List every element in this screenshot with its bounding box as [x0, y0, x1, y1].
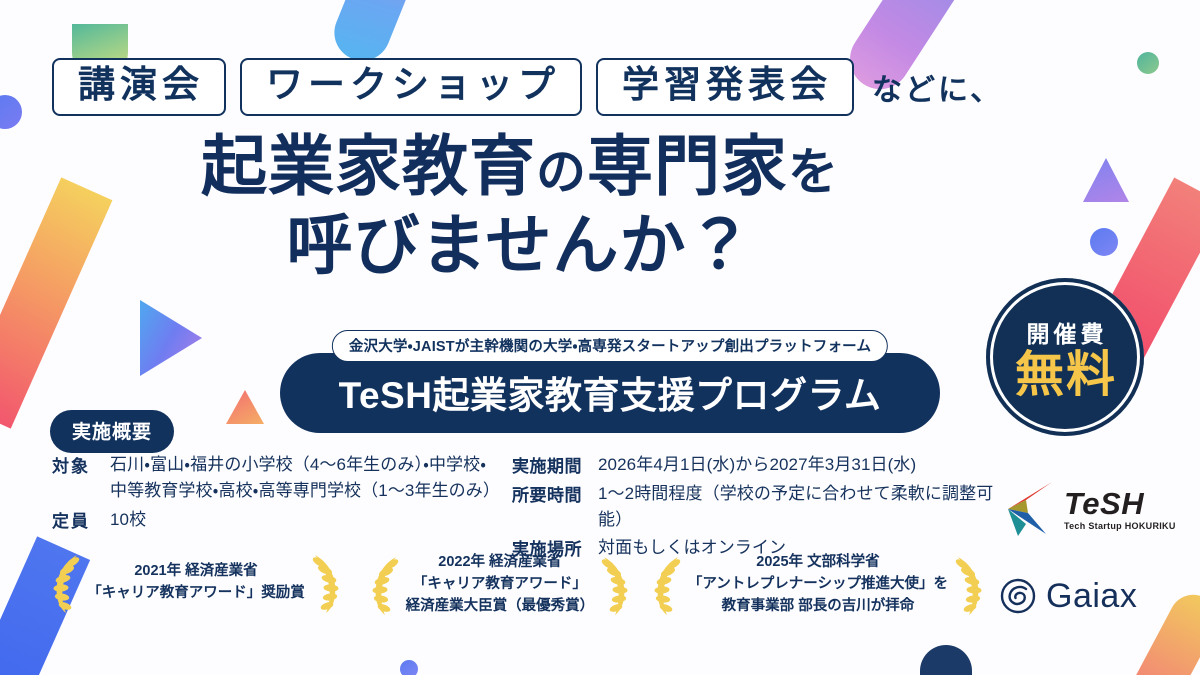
award-2021: 2021年 経済産業省 「キャリア教育アワード」奨励賞	[44, 552, 348, 614]
decor-orange-triangle	[226, 390, 264, 424]
overview-pill-label: 実施概要	[50, 410, 174, 453]
gaiax-logo: Gaiax	[1000, 578, 1137, 614]
award-2022-text: 2022年 経済産業省 「キャリア教育アワード」 経済産業大臣賞（最優秀賞）	[406, 552, 595, 617]
headline-line-2: 呼びませんか？	[0, 207, 1040, 284]
event-type-tags: 講演会 ワークショップ 学習発表会 などに、	[52, 58, 1003, 116]
award-2022: 2022年 経済産業省 「キャリア教育アワード」 経済産業大臣賞（最優秀賞）	[348, 552, 652, 617]
tags-suffix: などに、	[868, 65, 1003, 109]
overview-row-duration: 所要時間 1〜2時間程度（学校の予定に合わせて柔軟に調整可能）	[512, 481, 1012, 533]
laurel-right-icon	[596, 554, 630, 616]
decor-purple-triangle-right	[1083, 158, 1129, 202]
overview-left-column: 対象 石川・富山・福井の小学校（4〜6年生のみ）・中学校・ 中等教育学校・高校・…	[52, 452, 512, 564]
gaiax-swirl-icon	[1000, 578, 1036, 614]
award-2025-line2: 「アントレプレナーシップ推進大使」を	[688, 574, 948, 596]
overview-value-target-line2: 中等教育学校・高校・高等専門学校（1〜3年生のみ）	[110, 478, 500, 504]
headline: 起業家教育の専門家を 呼びませんか？	[0, 128, 1040, 283]
decor-small-blue-dot-bottom	[400, 660, 418, 675]
overview-row-period: 実施期間 2026年4月1日(水)から2027年3月31日(水)	[512, 452, 1012, 478]
award-2021-line2: 「キャリア教育アワード」奨励賞	[87, 583, 305, 605]
headline-part-1: 起業家教育	[201, 129, 536, 203]
overview-value-target: 石川・富山・福井の小学校（4〜6年生のみ）・中学校・ 中等教育学校・高校・高等専…	[110, 452, 500, 504]
overview-value-duration: 1〜2時間程度（学校の予定に合わせて柔軟に調整可能）	[598, 481, 1012, 533]
decor-blue-purple-triangle	[140, 300, 202, 376]
headline-part-2: 専門家	[587, 129, 788, 203]
award-2025-line3: 教育事業部 部長の吉川が拝命	[688, 596, 948, 618]
award-2022-line2: 「キャリア教育アワード」	[406, 574, 595, 596]
free-badge-label: 開催費	[1023, 315, 1108, 349]
program-title: TeSH起業家教育支援プログラム	[298, 365, 922, 419]
free-cost-badge: 開催費 無料	[986, 278, 1144, 436]
laurel-left-icon	[370, 554, 404, 616]
overview-details: 対象 石川・富山・福井の小学校（4〜6年生のみ）・中学校・ 中等教育学校・高校・…	[52, 452, 1012, 564]
overview-label-capacity: 定員	[52, 507, 110, 532]
award-2025-text: 2025年 文部科学省 「アントレプレナーシップ推進大使」を 教育事業部 部長の…	[688, 552, 948, 617]
laurel-left-icon	[652, 554, 686, 616]
award-2021-text: 2021年 経済産業省 「キャリア教育アワード」奨励賞	[87, 561, 305, 605]
tag-presentation: 学習発表会	[596, 58, 854, 116]
tesh-arrow-mark-icon	[1006, 480, 1058, 538]
program-bar: TeSH起業家教育支援プログラム	[280, 353, 940, 433]
overview-row-target: 対象 石川・富山・福井の小学校（4〜6年生のみ）・中学校・ 中等教育学校・高校・…	[52, 452, 512, 504]
overview-row-capacity: 定員 10校	[52, 507, 512, 533]
decor-blue-dot-right	[1090, 228, 1118, 256]
program-caption: 金沢大学・JAISTが主幹機関の大学・高専発スタートアップ創出プラットフォーム	[332, 330, 888, 362]
program-banner: 金沢大学・JAISTが主幹機関の大学・高専発スタートアップ創出プラットフォーム …	[280, 330, 940, 433]
tesh-tagline: Tech Startup HOKURIKU	[1064, 522, 1176, 531]
decor-green-dot-right	[1137, 52, 1159, 74]
award-2022-line3: 経済産業大臣賞（最優秀賞）	[406, 596, 595, 618]
decor-navy-dome-bottom	[920, 645, 972, 675]
overview-value-target-line1: 石川・富山・福井の小学校（4〜6年生のみ）・中学校・	[110, 455, 486, 474]
award-2021-year: 2021年 経済産業省	[87, 561, 305, 583]
headline-particle-no: の	[536, 144, 587, 200]
laurel-left-icon	[51, 552, 85, 614]
tesh-wordmark: TeSH Tech Startup HOKURIKU	[1064, 488, 1176, 531]
tag-lecture: 講演会	[52, 58, 226, 116]
laurel-right-icon	[307, 552, 341, 614]
award-2025: 2025年 文部科学省 「アントレプレナーシップ推進大使」を 教育事業部 部長の…	[652, 552, 984, 617]
decor-blue-dot-left	[0, 95, 22, 129]
award-2022-year: 2022年 経済産業省	[406, 552, 595, 574]
overview-value-period: 2026年4月1日(水)から2027年3月31日(水)	[598, 452, 916, 478]
award-2025-year: 2025年 文部科学省	[688, 552, 948, 574]
gaiax-wordmark: Gaiax	[1046, 579, 1137, 613]
laurel-right-icon	[950, 554, 984, 616]
overview-label-period: 実施期間	[512, 452, 598, 477]
headline-particle-wo: を	[788, 144, 839, 200]
overview-label-duration: 所要時間	[512, 481, 598, 506]
tesh-name: TeSH	[1064, 488, 1176, 519]
overview-value-capacity: 10校	[110, 507, 146, 533]
tag-workshop: ワークショップ	[240, 58, 582, 116]
overview-right-column: 実施期間 2026年4月1日(水)から2027年3月31日(水) 所要時間 1〜…	[512, 452, 1012, 564]
tesh-logo: TeSH Tech Startup HOKURIKU	[1006, 480, 1176, 538]
overview-label-target: 対象	[52, 452, 110, 477]
promo-poster: 講演会 ワークショップ 学習発表会 などに、 起業家教育の専門家を 呼びませんか…	[0, 0, 1200, 675]
free-badge-value: 無料	[1013, 351, 1117, 400]
awards-row: 2021年 経済産業省 「キャリア教育アワード」奨励賞	[44, 552, 984, 617]
